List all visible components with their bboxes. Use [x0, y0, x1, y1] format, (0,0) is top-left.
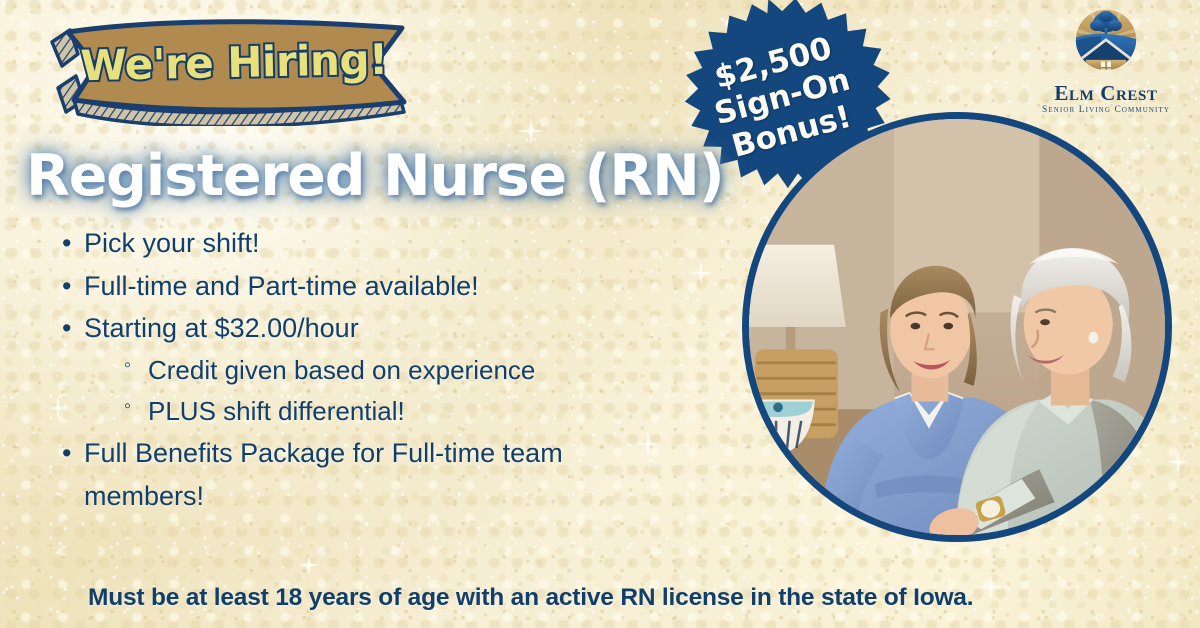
- list-item: ◦ PLUS shift differential!: [124, 391, 722, 432]
- list-item: ◦ Credit given based on experience: [124, 350, 722, 391]
- list-item-label: Full-time and Part-time available!: [84, 265, 722, 308]
- bullet-icon: •: [62, 265, 84, 308]
- page-title: Registered Nurse (RN): [26, 143, 723, 209]
- photo-illustration: [749, 119, 1165, 535]
- sub-bullet-icon: ◦: [124, 350, 148, 382]
- logo-tagline: Senior Living Community: [1030, 105, 1182, 115]
- eligibility-note: Must be at least 18 years of age with an…: [88, 584, 973, 612]
- list-item: • Pick your shift!: [62, 222, 722, 265]
- list-item-label: Pick your shift!: [84, 222, 722, 265]
- benefits-list: • Pick your shift! • Full-time and Part-…: [62, 222, 722, 517]
- were-hiring-ribbon: We're Hiring!: [44, 14, 424, 126]
- bullet-icon: •: [62, 307, 84, 350]
- elm-crest-logo: Elm Crest Senior Living Community: [1030, 8, 1182, 115]
- hiring-poster: We're Hiring! $2,500 Sign-On Bonus!: [0, 0, 1200, 628]
- list-item: • Full Benefits Package for Full-time te…: [62, 432, 722, 517]
- list-item: • Starting at $32.00/hour: [62, 307, 722, 350]
- logo-name: Elm Crest: [1030, 82, 1182, 104]
- bullet-icon: •: [62, 222, 84, 265]
- list-item-label: Full Benefits Package for Full-time team…: [84, 432, 624, 517]
- list-item-label: Starting at $32.00/hour: [84, 307, 722, 350]
- tree-house-circle-icon: [1063, 8, 1149, 80]
- nurse-and-resident-photo: [742, 112, 1172, 542]
- bullet-icon: •: [62, 432, 84, 475]
- sub-bullet-icon: ◦: [124, 391, 148, 423]
- list-item-label: Credit given based on experience: [148, 350, 722, 391]
- ribbon-label: We're Hiring!: [44, 34, 425, 91]
- list-item-label: PLUS shift differential!: [148, 391, 722, 432]
- list-item: • Full-time and Part-time available!: [62, 265, 722, 308]
